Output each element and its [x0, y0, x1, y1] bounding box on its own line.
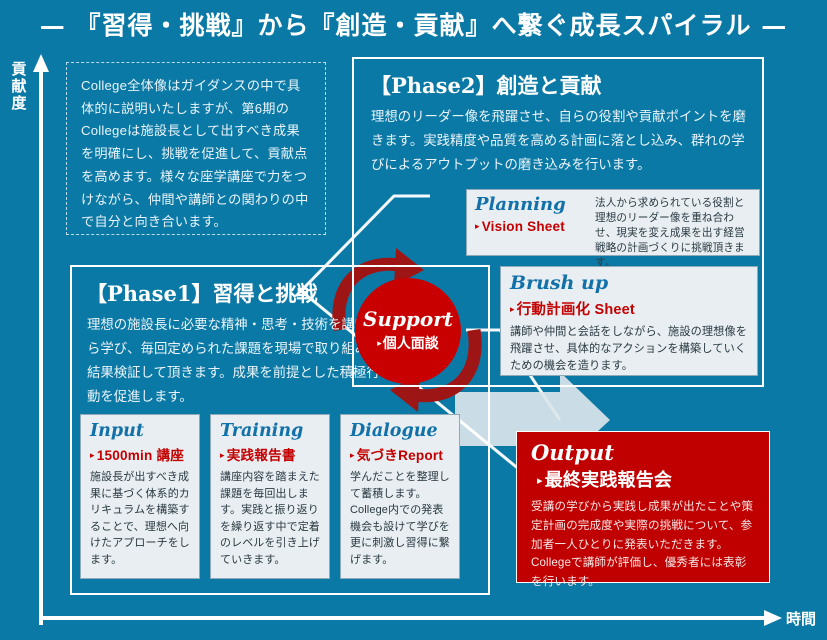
brushup-sub-label: 行動計画化 Sheet [517, 302, 635, 318]
triangle-marker-icon: ▸ [220, 450, 225, 460]
input-text: 施設長が出すべき成果に基づく体系的カリキュラムを構築することで、理想へ向けたアプ… [90, 469, 190, 568]
triangle-marker-icon: ▸ [350, 450, 355, 460]
training-sub-label: 実践報告書 [227, 448, 296, 463]
support-circle: Support ▸個人面談 [355, 278, 461, 384]
training-subtitle: ▸実践報告書 [220, 444, 320, 464]
training-title: Training [220, 422, 320, 440]
triangle-marker-icon: ▸ [90, 450, 95, 460]
phase1-heading: 【Phase1】習得と挑戦 [86, 278, 317, 308]
intro-box: College全体像はガイダンスの中で具体的に説明いたしますが、第6期のColl… [66, 62, 326, 235]
x-axis-arrow [41, 610, 782, 626]
support-title: Support [363, 309, 453, 329]
training-text: 講座内容を踏まえた課題を毎回出します。実践と振り返りを繰り返す中で定着のレベルを… [220, 469, 320, 568]
input-subtitle: ▸1500min 講座 [90, 444, 190, 464]
support-sub-label: 個人面談 [383, 335, 439, 351]
brushup-text: 講師や仲間と会話をしながら、施設の理想像を飛躍させ、具体的なアクションを構築して… [510, 324, 748, 374]
phase1-body: 理想の施設長に必要な精神・思考・技術を講師から学び、毎回定められた課題を現場で取… [87, 313, 387, 408]
planning-card: Planning ▸Vision Sheet 法人から求められている役割と理想の… [466, 189, 760, 256]
output-text: 受講の学びから実践し成果が出たことや策定計画の完成度や実際の挑戦について、参加者… [531, 498, 755, 592]
support-subtitle: ▸個人面談 [377, 333, 439, 353]
planning-title: Planning [475, 196, 587, 215]
input-card: Input ▸1500min 講座 施設長が出すべき成果に基づく体系的カリキュラ… [80, 414, 200, 579]
dialogue-sub-label: 気づきReport [357, 448, 443, 463]
y-axis-arrow [33, 54, 49, 625]
brushup-title: Brush up [510, 274, 748, 294]
dialogue-text: 学んだことを整理して蓄積します。College内での発表機会も設けて学びを更に刺… [350, 469, 450, 568]
y-axis-label: 貢献度 [8, 62, 30, 112]
x-axis-label: 時間 [786, 608, 816, 629]
training-card: Training ▸実践報告書 講座内容を踏まえた課題を毎回出します。実践と振り… [210, 414, 330, 579]
phase2-heading: 【Phase2】創造と貢献 [370, 70, 601, 100]
planning-text: 法人から求められている役割と理想のリーダー像を重ね合わせ、現実を変え成果を出す経… [595, 196, 751, 271]
input-sub-label: 1500min 講座 [97, 448, 184, 463]
planning-sub-label: Vision Sheet [482, 219, 565, 234]
output-subtitle: ▸最終実践報告会 [537, 466, 755, 492]
intro-text: College全体像はガイダンスの中で具体的に説明いたしますが、第6期のColl… [81, 75, 311, 234]
brushup-subtitle: ▸行動計画化 Sheet [510, 298, 748, 319]
triangle-marker-icon: ▸ [377, 338, 382, 348]
input-title: Input [90, 422, 190, 440]
brushup-card: Brush up ▸行動計画化 Sheet 講師や仲間と会話をしながら、施設の理… [500, 266, 758, 376]
output-title: Output [531, 442, 755, 464]
triangle-marker-icon: ▸ [510, 304, 515, 314]
output-card: Output ▸最終実践報告会 受講の学びから実践し成果が出たことや策定計画の完… [516, 431, 770, 583]
phase2-body: 理想のリーダー像を飛躍させ、自らの役割や貢献ポイントを磨きます。実践精度や品質を… [371, 105, 749, 177]
planning-subtitle: ▸Vision Sheet [475, 219, 587, 234]
dialogue-card: Dialogue ▸気づきReport 学んだことを整理して蓄積します。Coll… [340, 414, 460, 579]
triangle-marker-icon: ▸ [537, 475, 543, 487]
dialogue-subtitle: ▸気づきReport [350, 444, 450, 464]
triangle-marker-icon: ▸ [475, 221, 480, 231]
dialogue-title: Dialogue [350, 422, 450, 440]
output-sub-label: 最終実践報告会 [545, 470, 672, 490]
page-title: — 『習得・挑戦』から『創造・貢献』へ繋ぐ成長スパイラル — [0, 6, 827, 42]
infographic-canvas: — 『習得・挑戦』から『創造・貢献』へ繋ぐ成長スパイラル — 貢献度 時間 Co… [0, 0, 827, 640]
